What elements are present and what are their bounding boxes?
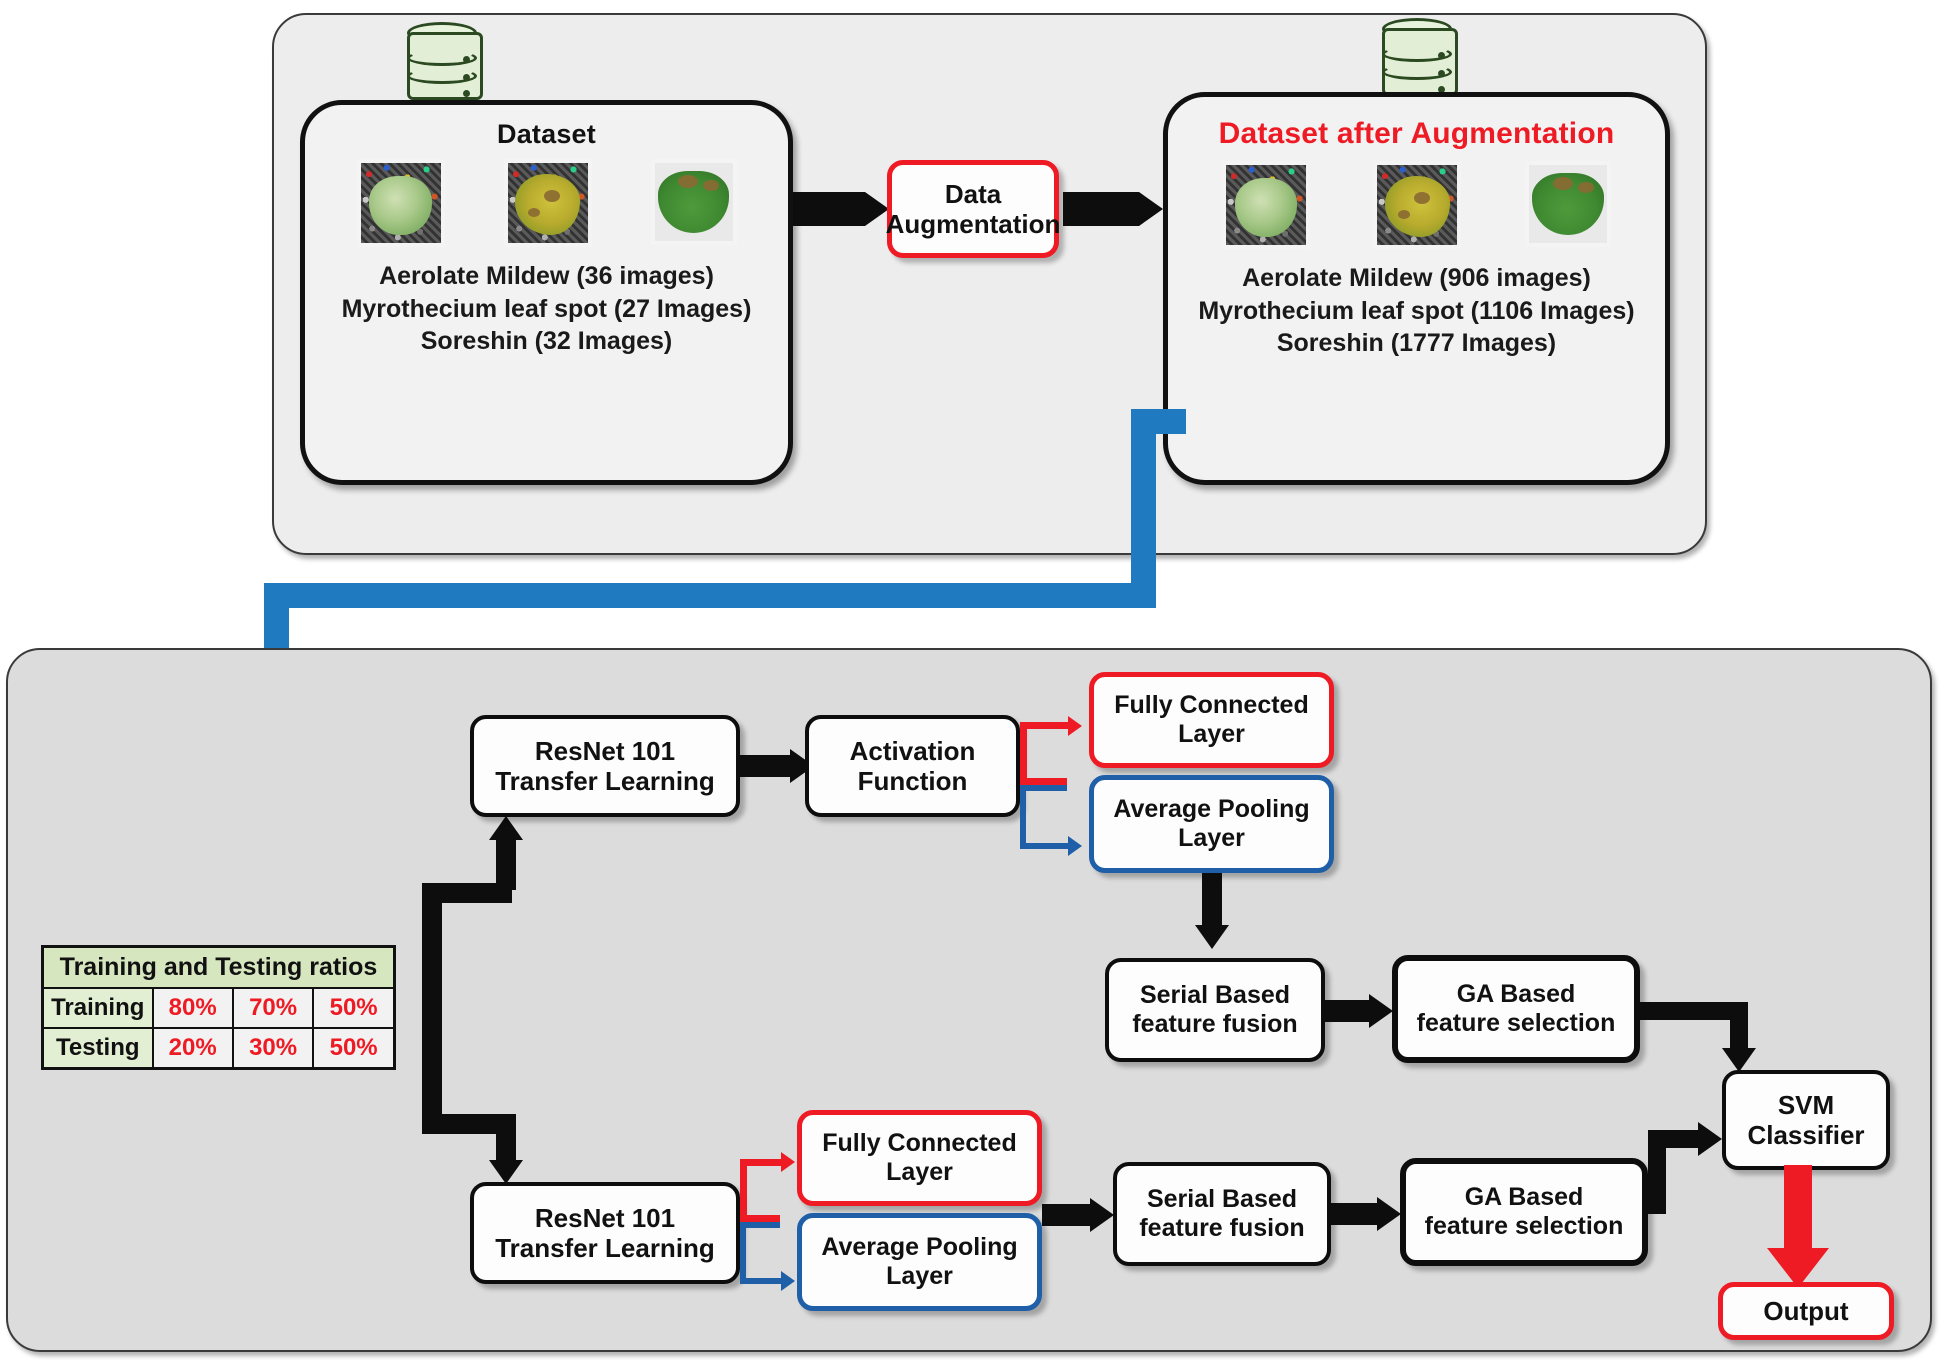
bottom-average-pooling-layer-box[interactable]: Average Pooling Layer <box>797 1213 1042 1311</box>
arrow-bottom-fusion-to-selection-shaft <box>1331 1203 1377 1225</box>
arrow-augmentation-to-augmented-head <box>1139 192 1163 226</box>
top-resnet-line1: ResNet 101 <box>495 736 715 766</box>
thumbnail-soreshin <box>655 163 733 241</box>
blue-connector-seg-horizontal <box>264 583 1156 608</box>
top-fc-line2: Layer <box>1114 720 1308 749</box>
training-ratio-1: 80% <box>153 988 233 1028</box>
augmented-dataset-class-list: Aerolate Mildew (906 images) Myrothecium… <box>1168 262 1665 360</box>
data-augmentation-label-line1: Data <box>886 179 1061 209</box>
arrow-top-selection-to-svm-v <box>1730 1002 1748 1054</box>
top-fusion-line1: Serial Based <box>1132 981 1297 1010</box>
row-label-testing: Testing <box>43 1028 153 1069</box>
original-class-line-1: Aerolate Mildew (36 images) <box>305 260 788 293</box>
table-row: Training 80% 70% 50% <box>43 988 395 1028</box>
blue-branch-bottom-arrowhead <box>781 1271 795 1291</box>
training-testing-ratios-table: Training and Testing ratios Training 80%… <box>41 945 396 1070</box>
red-branch-bottom-v <box>740 1159 747 1222</box>
top-serial-feature-fusion-box[interactable]: Serial Based feature fusion <box>1105 958 1325 1062</box>
bottom-resnet-line1: ResNet 101 <box>495 1203 715 1233</box>
top-fc-line1: Fully Connected <box>1114 691 1308 720</box>
red-branch-top-h1 <box>1020 778 1067 785</box>
original-class-line-3: Soreshin (32 Images) <box>305 325 788 358</box>
red-branch-bottom-h2 <box>740 1159 785 1166</box>
activation-line1: Activation <box>850 736 976 766</box>
thumbnail-myrothecium-leaf-spot <box>508 163 588 243</box>
svm-line2: Classifier <box>1747 1120 1864 1150</box>
original-dataset-title: Dataset <box>305 119 788 150</box>
bottom-fusion-line2: feature fusion <box>1139 1214 1304 1243</box>
thumbnail-aerolate-mildew-aug <box>1226 165 1306 245</box>
arrow-to-bottom-resnet-head <box>489 1160 523 1184</box>
split-connector-up-vertical <box>422 883 442 1033</box>
blue-branch-top-h2 <box>1020 843 1072 849</box>
arrow-top-fusion-to-selection-shaft <box>1325 1000 1369 1022</box>
augmented-dataset-box: Dataset after Augmentation Aerolate Mild… <box>1163 92 1670 485</box>
top-fully-connected-layer-box[interactable]: Fully Connected Layer <box>1089 672 1334 768</box>
table-row: Testing 20% 30% 50% <box>43 1028 395 1069</box>
bottom-pool-line1: Average Pooling <box>821 1233 1017 1262</box>
bottom-fully-connected-layer-box[interactable]: Fully Connected Layer <box>797 1110 1042 1206</box>
arrow-bottom-branch-to-fusion-head <box>1090 1198 1114 1232</box>
arrow-to-bottom-resnet-shaft <box>496 1114 516 1166</box>
arrow-top-fusion-to-selection-head <box>1369 994 1393 1028</box>
bottom-fc-line1: Fully Connected <box>822 1129 1016 1158</box>
top-resnet-box[interactable]: ResNet 101 Transfer Learning <box>470 715 740 817</box>
bottom-resnet-box[interactable]: ResNet 101 Transfer Learning <box>470 1182 740 1284</box>
top-average-pooling-layer-box[interactable]: Average Pooling Layer <box>1089 775 1334 873</box>
arrow-to-top-resnet-head <box>489 816 523 840</box>
arrow-resnet-to-activation-shaft <box>740 755 790 777</box>
original-dataset-thumbnails <box>305 163 788 243</box>
augmented-dataset-title: Dataset after Augmentation <box>1168 117 1665 151</box>
training-ratio-3: 50% <box>313 988 394 1028</box>
bottom-resnet-line2: Transfer Learning <box>495 1233 715 1263</box>
bottom-ga-feature-selection-box[interactable]: GA Based feature selection <box>1400 1158 1648 1266</box>
arrow-svm-to-output-shaft <box>1784 1165 1812 1261</box>
blue-branch-top-v <box>1020 785 1026 849</box>
data-augmentation-box[interactable]: Data Augmentation <box>887 160 1059 258</box>
testing-ratio-1: 20% <box>153 1028 233 1069</box>
output-box[interactable]: Output <box>1718 1282 1894 1340</box>
ratios-table-header: Training and Testing ratios <box>43 947 395 989</box>
blue-branch-top-h1 <box>1020 785 1067 791</box>
thumbnail-myrothecium-leaf-spot-aug <box>1377 165 1457 245</box>
augmented-class-line-2: Myrothecium leaf spot (1106 Images) <box>1168 295 1665 328</box>
bottom-fc-line2: Layer <box>822 1158 1016 1187</box>
top-pool-line2: Layer <box>1113 824 1309 853</box>
bottom-serial-feature-fusion-box[interactable]: Serial Based feature fusion <box>1113 1162 1331 1266</box>
arrow-augmentation-to-augmented-shaft <box>1063 192 1139 226</box>
arrow-bottom-selection-to-svm-head <box>1698 1122 1722 1156</box>
bottom-pool-line2: Layer <box>821 1262 1017 1291</box>
top-fusion-line2: feature fusion <box>1132 1010 1297 1039</box>
arrow-pool-to-fusion-head <box>1195 925 1229 949</box>
blue-branch-top-arrowhead <box>1068 836 1082 856</box>
arrow-bottom-fusion-to-selection-head <box>1377 1197 1401 1231</box>
svm-classifier-box[interactable]: SVM Classifier <box>1722 1070 1890 1170</box>
svm-line1: SVM <box>1747 1090 1864 1120</box>
output-label: Output <box>1763 1296 1848 1326</box>
bottom-selection-line2: feature selection <box>1425 1212 1624 1241</box>
top-selection-line1: GA Based <box>1417 980 1616 1009</box>
bottom-selection-line1: GA Based <box>1425 1183 1624 1212</box>
database-icon <box>403 22 483 108</box>
testing-ratio-2: 30% <box>233 1028 313 1069</box>
arrow-dataset-to-augmentation-shaft <box>793 192 865 226</box>
augmented-dataset-thumbnails <box>1168 165 1665 245</box>
table-header-row: Training and Testing ratios <box>43 947 395 989</box>
augmented-class-line-1: Aerolate Mildew (906 images) <box>1168 262 1665 295</box>
diagram-canvas: Dataset Aerolate Mildew (36 images) Myro… <box>0 0 1945 1366</box>
testing-ratio-3: 50% <box>313 1028 394 1069</box>
activation-line2: Function <box>850 766 976 796</box>
red-branch-top-arrowhead <box>1068 716 1082 736</box>
blue-connector-seg-vertical-right <box>1131 409 1156 608</box>
thumbnail-soreshin-aug <box>1529 165 1607 243</box>
arrow-top-selection-to-svm-head <box>1722 1048 1756 1072</box>
arrow-bottom-branch-to-fusion-shaft <box>1042 1204 1090 1226</box>
thumbnail-aerolate-mildew <box>361 163 441 243</box>
row-label-training: Training <box>43 988 153 1028</box>
bottom-fusion-line1: Serial Based <box>1139 1185 1304 1214</box>
activation-function-box[interactable]: Activation Function <box>805 715 1020 817</box>
top-selection-line2: feature selection <box>1417 1009 1616 1038</box>
original-dataset-box: Dataset Aerolate Mildew (36 images) Myro… <box>300 100 793 485</box>
blue-branch-bottom-v <box>740 1222 746 1284</box>
original-class-line-2: Myrothecium leaf spot (27 Images) <box>305 293 788 326</box>
red-branch-top-h2 <box>1020 722 1072 729</box>
augmented-class-line-3: Soreshin (1777 Images) <box>1168 327 1665 360</box>
arrow-bottom-selection-to-svm-h <box>1648 1130 1700 1148</box>
red-branch-bottom-arrowhead <box>781 1152 795 1172</box>
data-augmentation-label-line2: Augmentation <box>886 209 1061 239</box>
top-ga-feature-selection-box[interactable]: GA Based feature selection <box>1392 955 1640 1063</box>
blue-branch-bottom-h1 <box>740 1222 780 1228</box>
training-ratio-2: 70% <box>233 988 313 1028</box>
red-branch-top-v <box>1020 722 1027 785</box>
arrow-pool-to-fusion-shaft <box>1202 873 1222 931</box>
original-dataset-class-list: Aerolate Mildew (36 images) Myrothecium … <box>305 260 788 358</box>
top-resnet-line2: Transfer Learning <box>495 766 715 796</box>
blue-branch-bottom-h2 <box>740 1278 785 1284</box>
top-pool-line1: Average Pooling <box>1113 795 1309 824</box>
arrow-to-top-resnet-shaft <box>496 838 516 890</box>
